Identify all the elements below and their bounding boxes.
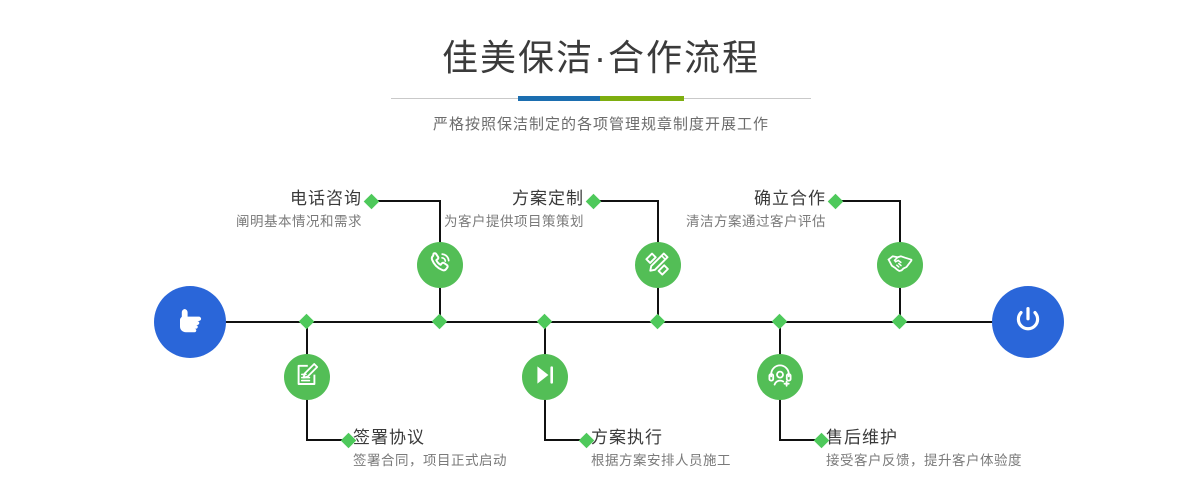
label-marker-establish-coop — [828, 194, 844, 210]
timeline-marker-plan-custom — [650, 314, 666, 330]
timeline-start-node[interactable] — [154, 286, 226, 358]
step-icon-after-sales[interactable] — [757, 354, 803, 400]
step-title-after-sales: 售后维护 — [826, 427, 1166, 449]
headset-support-icon — [766, 361, 794, 394]
step-icon-sign-agreement[interactable] — [284, 354, 330, 400]
step-icon-plan-execute[interactable] — [522, 354, 568, 400]
pointing-hand-icon — [171, 301, 209, 344]
timeline-marker-sign-agreement — [299, 314, 315, 330]
timeline-marker-establish-coop — [892, 314, 908, 330]
timeline: 电话咨询 阐明基本情况和需求 方案定制 为客户提供项目策策划 — [0, 0, 1202, 502]
timeline-marker-phone-consult — [432, 314, 448, 330]
step-desc-phone-consult: 阐明基本情况和需求 — [110, 210, 362, 232]
timeline-end-node[interactable] — [992, 286, 1064, 358]
connector-horizontal-establish-coop — [836, 200, 901, 202]
step-title-phone-consult: 电话咨询 — [110, 188, 362, 210]
handshake-icon — [886, 249, 914, 282]
step-desc-plan-custom: 为客户提供项目策策划 — [340, 210, 584, 232]
step-label-phone-consult: 电话咨询 阐明基本情况和需求 — [110, 188, 362, 232]
power-icon — [1009, 301, 1047, 344]
step-label-plan-custom: 方案定制 为客户提供项目策策划 — [340, 188, 584, 232]
timeline-marker-after-sales — [772, 314, 788, 330]
play-execute-icon — [531, 361, 559, 394]
step-desc-after-sales: 接受客户反馈，提升客户体验度 — [826, 449, 1166, 471]
step-label-establish-coop: 确立合作 清洁方案通过客户评估 — [580, 188, 826, 232]
step-desc-establish-coop: 清洁方案通过客户评估 — [580, 210, 826, 232]
step-title-establish-coop: 确立合作 — [580, 188, 826, 210]
pen-design-icon — [644, 249, 672, 282]
phone-call-icon — [426, 249, 454, 282]
step-icon-phone-consult[interactable] — [417, 242, 463, 288]
step-icon-plan-custom[interactable] — [635, 242, 681, 288]
timeline-marker-plan-execute — [537, 314, 553, 330]
process-flow-infographic: 佳美保洁·合作流程 严格按照保洁制定的各项管理规章制度开展工作 — [0, 0, 1202, 502]
document-edit-icon — [293, 361, 321, 394]
step-label-after-sales: 售后维护 接受客户反馈，提升客户体验度 — [826, 427, 1166, 471]
step-icon-establish-coop[interactable] — [877, 242, 923, 288]
